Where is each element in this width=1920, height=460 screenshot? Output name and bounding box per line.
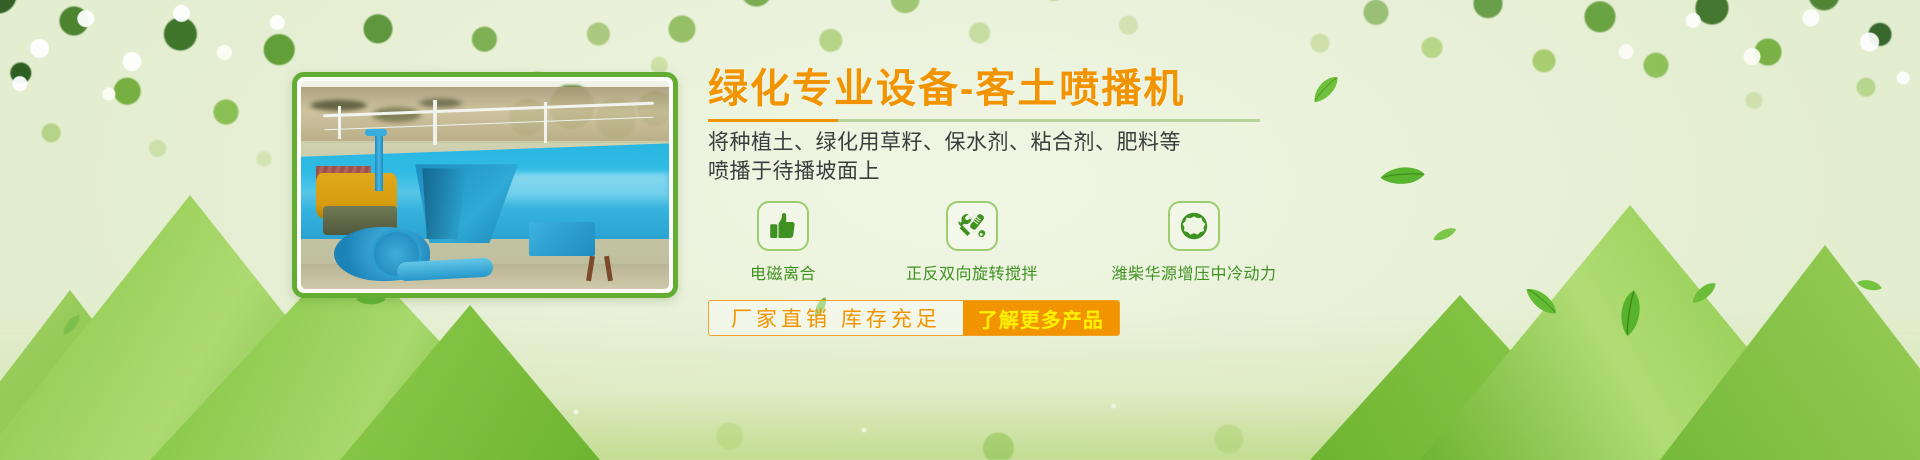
banner-subtitle-line2: 喷播于待播坡面上 — [708, 158, 1308, 187]
product-photo — [292, 72, 678, 298]
banner-content: 绿化专业设备-客土喷播机 将种植土、绿化用草籽、保水剂、粘合剂、肥料等 喷播于待… — [708, 66, 1308, 336]
white-flowers-left-icon — [0, 0, 330, 120]
banner-subtitle: 将种植土、绿化用草籽、保水剂、粘合剂、肥料等 喷播于待播坡面上 — [708, 129, 1308, 187]
title-divider — [708, 119, 1260, 122]
gear-icon — [1168, 201, 1220, 251]
leaf-icon — [1431, 226, 1459, 247]
feature-list: 电磁离合 正反双向旋转搅拌 — [708, 201, 1308, 284]
leaf-icon — [1307, 73, 1348, 109]
feature-label: 电磁离合 — [750, 260, 816, 284]
foliage-top-right-icon — [1250, 0, 1920, 140]
feature-item-bidirectional-mixing: 正反双向旋转搅拌 — [858, 201, 1086, 284]
feature-item-weichai-power: 潍柴华源增压中冷动力 — [1086, 201, 1302, 284]
leaf-icon — [1377, 160, 1426, 197]
tools-icon — [946, 201, 998, 251]
cta-slogan: 厂家直销 库存充足 — [709, 301, 963, 335]
cta-bar: 厂家直销 库存充足 了解更多产品 — [708, 300, 1120, 336]
promo-banner: 绿化专业设备-客土喷播机 将种植土、绿化用草籽、保水剂、粘合剂、肥料等 喷播于待… — [0, 0, 1920, 460]
white-flowers-right-icon — [1500, 0, 1920, 114]
thumbs-up-icon — [757, 201, 809, 251]
learn-more-button[interactable]: 了解更多产品 — [963, 301, 1119, 335]
feature-label: 正反双向旋转搅拌 — [906, 260, 1038, 284]
banner-subtitle-line1: 将种植土、绿化用草籽、保水剂、粘合剂、肥料等 — [708, 129, 1308, 158]
feature-item-electromagnetic-clutch: 电磁离合 — [708, 201, 858, 284]
banner-title: 绿化专业设备-客土喷播机 — [708, 66, 1308, 113]
feature-label: 潍柴华源增压中冷动力 — [1111, 260, 1276, 284]
product-photo-image — [301, 81, 669, 289]
